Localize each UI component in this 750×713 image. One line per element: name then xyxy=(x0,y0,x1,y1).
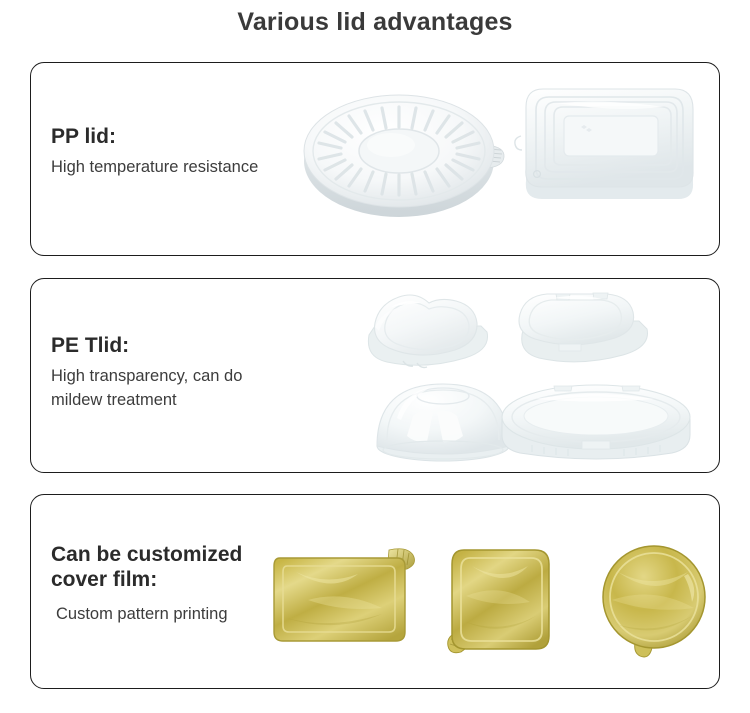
panel-cover-film-text-block: Can be customized cover film: Custom pat… xyxy=(51,543,242,626)
product-image-rectangular-lid xyxy=(496,73,711,223)
product-image-round-ribbed-lid xyxy=(299,83,509,223)
panel-pp-lid: PP lid: High temperature resistance xyxy=(30,62,720,256)
panel-pe-lid: PE Tlid: High transparency, can do milde… xyxy=(30,278,720,473)
panel-pe-lid-heading: PE Tlid: xyxy=(51,334,242,359)
panel-pe-lid-description: High transparency, can do mildew treatme… xyxy=(51,365,242,413)
product-image-oval-flat-lid xyxy=(496,379,696,461)
panel-pe-lid-text-block: PE Tlid: High transparency, can do milde… xyxy=(51,334,242,413)
product-image-square-dome-lid xyxy=(509,284,664,374)
product-image-gold-square-foil xyxy=(436,540,581,665)
page-title: Various lid advantages xyxy=(0,8,750,37)
product-image-heart-dome-lid xyxy=(351,287,511,377)
panel-cover-film-heading: Can be customized cover film: xyxy=(51,543,242,593)
product-image-dome-cup-lid xyxy=(371,374,521,466)
panel-pp-lid-heading: PP lid: xyxy=(51,125,258,150)
panel-cover-film: Can be customized cover film: Custom pat… xyxy=(30,494,720,689)
product-image-gold-round-foil xyxy=(586,540,726,665)
product-image-gold-rectangular-foil xyxy=(256,540,431,655)
panel-pp-lid-description: High temperature resistance xyxy=(51,156,258,180)
panel-cover-film-description: Custom pattern printing xyxy=(51,603,242,627)
panel-pp-lid-text-block: PP lid: High temperature resistance xyxy=(51,125,258,180)
